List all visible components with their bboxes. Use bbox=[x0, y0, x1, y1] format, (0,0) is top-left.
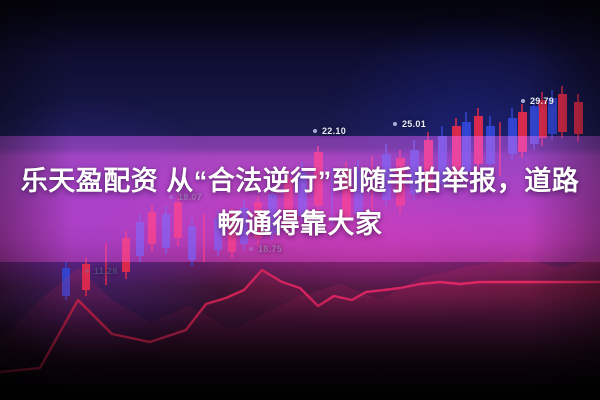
headline: 乐天盈配资 从“合法逆行”到随手拍举报，道路 畅通得靠大家 bbox=[0, 160, 600, 246]
headline-line-1: 乐天盈配资 从“合法逆行”到随手拍举报，道路 bbox=[21, 166, 580, 196]
headline-line-2: 畅通得靠大家 bbox=[0, 203, 600, 246]
banner-canvas: 29.79 25.01 22.10 18.07 18.75 11.28 乐天盈配… bbox=[0, 0, 600, 400]
